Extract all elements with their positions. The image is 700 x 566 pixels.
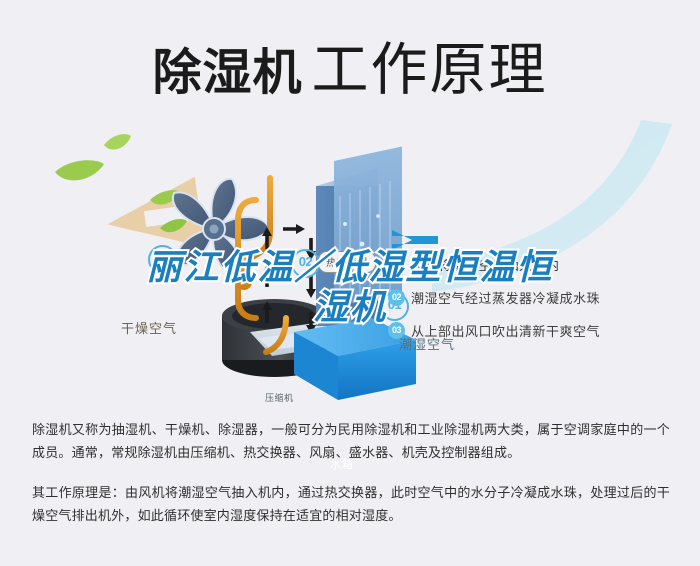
page-root: 除湿机工作原理 bbox=[0, 0, 700, 566]
diagram-badge-03: 03 bbox=[148, 245, 177, 274]
legend-badge-01: 01 bbox=[388, 256, 405, 273]
legend-item: 02 潮湿空气经过蒸发器冷凝成水珠 bbox=[388, 281, 688, 314]
diagram-badge-02: 02 bbox=[291, 249, 320, 278]
legend-text-02: 潮湿空气经过蒸发器冷凝成水珠 bbox=[411, 288, 600, 307]
legend-text-03: 从上部出风口吹出清新干爽空气 bbox=[411, 321, 600, 340]
copper-accumulator bbox=[236, 250, 252, 290]
page-title-band: 除湿机工作原理 bbox=[0, 0, 700, 112]
page-title: 除湿机工作原理 bbox=[0, 24, 700, 106]
body-paragraph-2: 其工作原理是：由风机将潮湿空气抽入机内，通过热交换器，此时空气中的水分子冷凝成水… bbox=[32, 481, 670, 527]
page-title-part2: 工作原理 bbox=[312, 38, 548, 102]
legend-badge-03: 03 bbox=[388, 322, 405, 339]
dry-air-label: 干燥空气 bbox=[121, 318, 177, 337]
legend-text-01: 风机将潮湿空气抽入机内 bbox=[411, 255, 560, 274]
body-copy: 除湿机又称为抽湿机、干燥机、除湿器，一般可分为民用除湿机和工业除湿机两大类，属于… bbox=[32, 418, 670, 527]
legend-badge-02: 02 bbox=[388, 289, 405, 306]
legend-item: 01 风机将潮湿空气抽入机内 bbox=[388, 248, 688, 281]
body-paragraph-1: 除湿机又称为抽湿机、干燥机、除湿器，一般可分为民用除湿机和工业除湿机两大类，属于… bbox=[32, 418, 670, 464]
legend-list: 01 风机将潮湿空气抽入机内 02 潮湿空气经过蒸发器冷凝成水珠 03 从上部出… bbox=[388, 248, 688, 347]
page-title-part1: 除湿机 bbox=[152, 46, 302, 100]
legend-item: 03 从上部出风口吹出清新干爽空气 bbox=[388, 314, 688, 347]
compressor-label: 压缩机 bbox=[265, 391, 294, 404]
heat-exchanger-callout-tail bbox=[344, 269, 354, 280]
